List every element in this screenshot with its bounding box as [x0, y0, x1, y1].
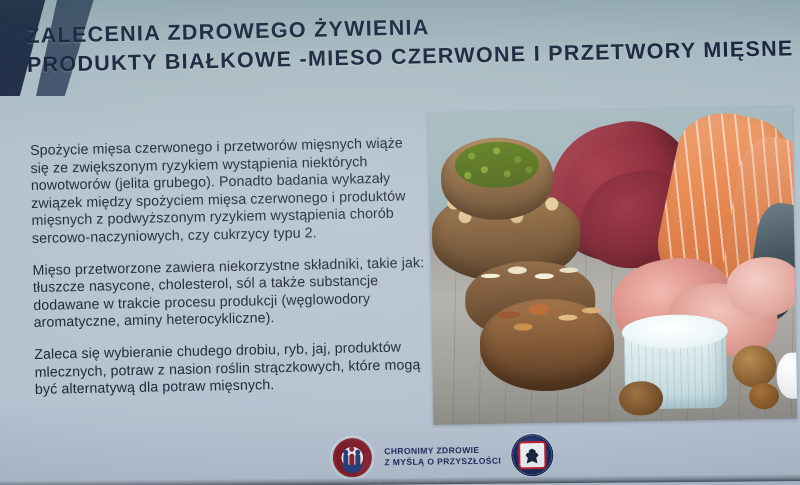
- slide-body-text: Spożycie mięsa czerwonego i przetworów m…: [30, 135, 427, 400]
- body-paragraph-2: Mięso przetworzone zawiera niekorzystne …: [32, 255, 425, 333]
- footer-slogan: CHRONIMY ZDROWIE Z MYŚLĄ O PRZYSZŁOŚCI: [384, 444, 501, 469]
- presentation-slide: ZALECENIA ZDROWEGO ŻYWIENIA PRODUKTY BIA…: [0, 0, 800, 485]
- slide-heading: ZALECENIA ZDROWEGO ŻYWIENIA PRODUKTY BIA…: [26, 5, 799, 80]
- protein-foods-photo: [428, 107, 797, 425]
- footer-slogan-line-2: Z MYŚLĄ O PRZYSZŁOŚCI: [384, 456, 501, 469]
- mixed-nuts: [487, 294, 606, 344]
- state-sanitary-inspection-emblem-icon: [511, 434, 554, 477]
- body-paragraph-1: Spożycie mięsa czerwonego i przetworów m…: [30, 135, 424, 248]
- body-paragraph-3: Zaleca się wybieranie chudego drobiu, ry…: [34, 339, 427, 400]
- logo-figure-head-center: [349, 447, 354, 452]
- slide-photo-frame: ZALECENIA ZDROWEGO ŻYWIENIA PRODUKTY BIA…: [0, 0, 800, 485]
- slide-footer: CHRONIMY ZDROWIE Z MYŚLĄ O PRZYSZŁOŚCI: [330, 431, 561, 482]
- white-beans: [475, 256, 588, 298]
- cracked-walnut: [619, 381, 664, 416]
- health-protection-logo-icon: [330, 435, 375, 480]
